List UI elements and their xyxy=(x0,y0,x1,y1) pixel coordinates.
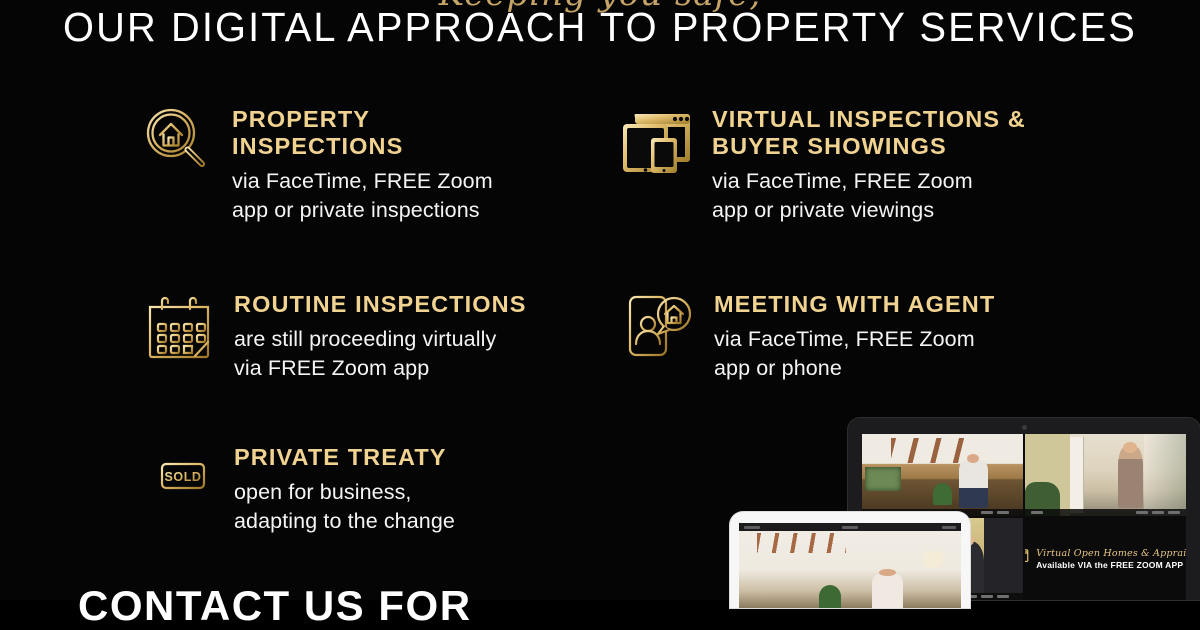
feature-text: MEETING WITH AGENT via FaceTime, FREE Zo… xyxy=(714,285,995,382)
feature-text: VIRTUAL INSPECTIONS & BUYER SHOWINGS via… xyxy=(712,100,1026,224)
magnifier-house-icon xyxy=(138,100,216,178)
agent-video-call-tile xyxy=(739,523,961,608)
feature-item-private-treaty: SOLD PRIVATE TREATY open for business, a… xyxy=(140,438,610,535)
feature-item-meeting-with-agent: MEETING WITH AGENT via FaceTime, FREE Zo… xyxy=(620,285,1120,382)
clipped-footer-headline: CONTACT US FOR xyxy=(78,582,472,630)
feature-item-virtual-inspections: VIRTUAL INSPECTIONS & BUYER SHOWINGS via… xyxy=(618,100,1118,224)
phone-agent-house-icon xyxy=(620,285,698,363)
feature-text: PRIVATE TREATY open for business, adapti… xyxy=(234,438,455,535)
feature-title: ROUTINE INSPECTIONS xyxy=(234,291,526,318)
multi-device-icon xyxy=(618,100,696,178)
feature-title: PRIVATE TREATY xyxy=(234,444,455,471)
feature-body: are still proceeding virtually via FREE … xyxy=(234,325,526,382)
feature-body: via FaceTime, FREE Zoom app or phone xyxy=(714,325,995,382)
feature-body: via FaceTime, FREE Zoom app or private v… xyxy=(712,167,1026,224)
tablet-mockup xyxy=(730,512,970,608)
badge-sub-line: Available VIA the FREE ZOOM APP xyxy=(1036,561,1186,570)
agent-in-kitchen-tile xyxy=(862,434,1023,516)
feature-text: PROPERTY INSPECTIONS via FaceTime, FREE … xyxy=(232,100,493,224)
woman-at-doorway-tile xyxy=(1025,434,1186,516)
feature-item-routine-inspections: ROUTINE INSPECTIONS are still proceeding… xyxy=(140,285,610,382)
branding-overlay-tile: Virtual Open Homes & Appraisals Availabl… xyxy=(1025,518,1186,600)
feature-title: PROPERTY INSPECTIONS xyxy=(232,106,493,160)
badge-script-line: Virtual Open Homes & Appraisals xyxy=(1036,549,1186,559)
zoom-branding-badge: Virtual Open Homes & Appraisals Availabl… xyxy=(1025,549,1186,570)
sold-sign-icon: SOLD xyxy=(140,438,218,516)
feature-text: ROUTINE INSPECTIONS are still proceeding… xyxy=(234,285,526,382)
feature-body: open for business, adapting to the chang… xyxy=(234,478,455,535)
feature-title: MEETING WITH AGENT xyxy=(714,291,995,318)
feature-title: VIRTUAL INSPECTIONS & BUYER SHOWINGS xyxy=(712,106,1026,160)
feature-body: via FaceTime, FREE Zoom app or private i… xyxy=(232,167,493,224)
svg-text:SOLD: SOLD xyxy=(164,470,201,484)
calendar-icon xyxy=(140,285,218,363)
page-title: OUR DIGITAL APPROACH TO PROPERTY SERVICE… xyxy=(18,4,1182,51)
multi-device-icon xyxy=(1025,549,1029,569)
feature-item-property-inspections: PROPERTY INSPECTIONS via FaceTime, FREE … xyxy=(138,100,608,224)
device-mockups: Virtual Open Homes & Appraisals Availabl… xyxy=(730,400,1200,600)
